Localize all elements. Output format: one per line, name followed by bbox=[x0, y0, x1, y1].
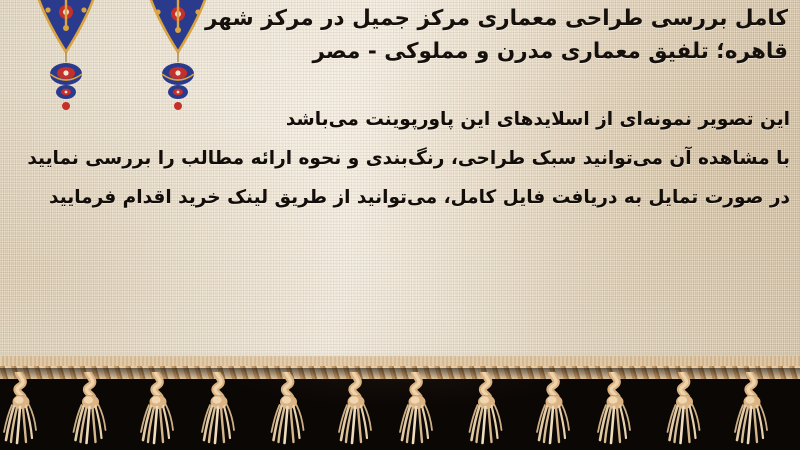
fringe-tassel bbox=[200, 372, 242, 450]
fringe-tassel bbox=[728, 372, 770, 450]
slide-title: کامل بررسی طراحی معماری مرکز جمیل در مرک… bbox=[204, 2, 788, 68]
fringe-tassel bbox=[68, 372, 110, 450]
fringe-tassel bbox=[332, 372, 374, 450]
slide-canvas: کامل بررسی طراحی معماری مرکز جمیل در مرک… bbox=[0, 0, 800, 450]
body-line-3: در صورت تمایل به دریافت فایل کامل، می‌تو… bbox=[6, 178, 790, 217]
title-line-1: کامل بررسی طراحی معماری مرکز جمیل در مرک… bbox=[204, 2, 788, 35]
body-line-2: با مشاهده آن می‌توانید سبک طراحی، رنگ‌بن… bbox=[6, 139, 790, 178]
fringe-tassel-row bbox=[0, 372, 800, 450]
fringe-tassel bbox=[2, 372, 44, 450]
body-line-1: این تصویر نمونه‌ای از اسلایدهای این پاور… bbox=[6, 100, 790, 139]
fringe-tassel bbox=[662, 372, 704, 450]
fringe-tassel bbox=[530, 372, 572, 450]
fringe-tassel bbox=[134, 372, 176, 450]
slide-body: این تصویر نمونه‌ای از اسلایدهای این پاور… bbox=[6, 100, 790, 217]
title-line-2: قاهره؛ تلفیق معماری مدرن و مملوکی - مصر bbox=[204, 35, 788, 68]
fringe-tassel bbox=[464, 372, 506, 450]
fringe-tassel bbox=[266, 372, 308, 450]
fringe-tassel bbox=[398, 372, 440, 450]
fringe-tassel bbox=[596, 372, 638, 450]
tazhib-pendant-left-icon bbox=[14, 0, 118, 116]
